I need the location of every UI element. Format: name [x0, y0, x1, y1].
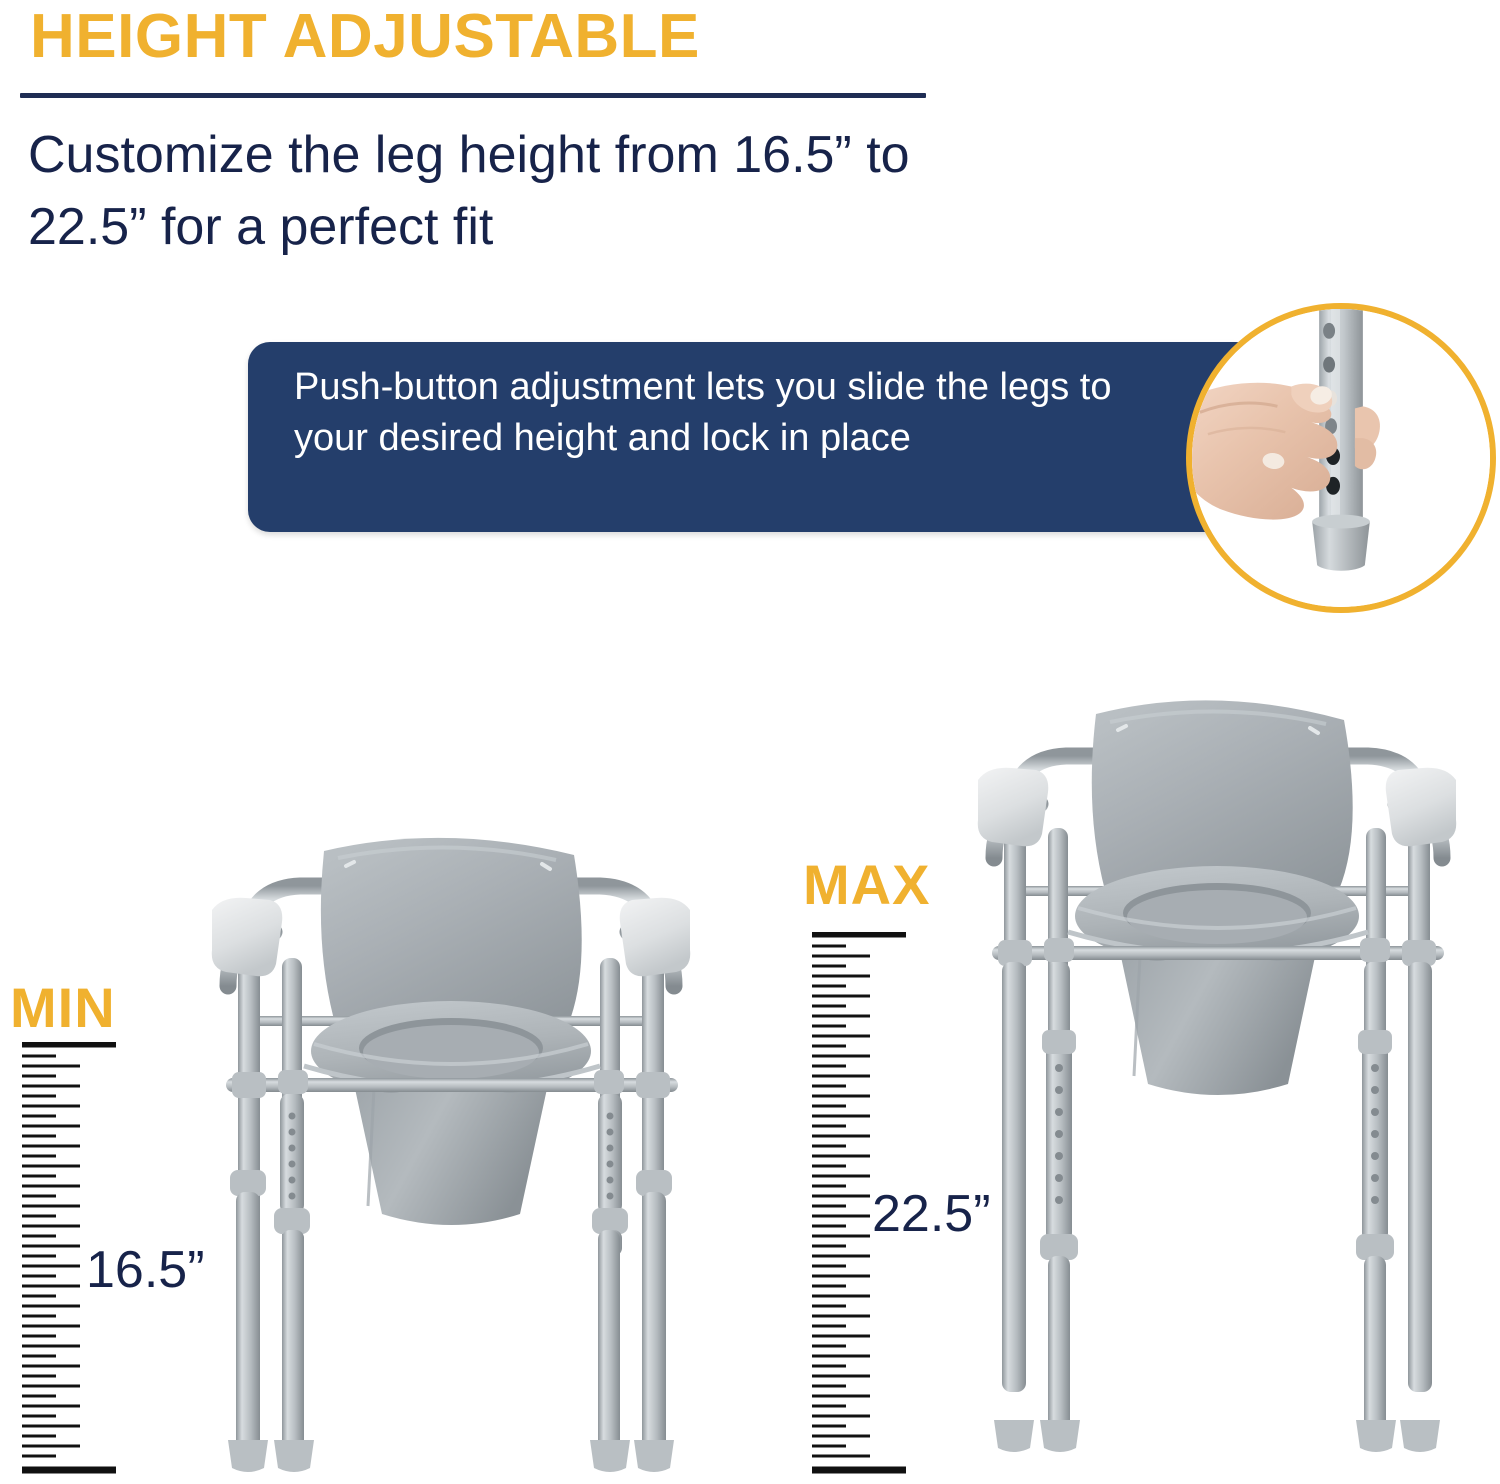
commode-chair-max-illustration	[946, 686, 1486, 1484]
hand-on-leg-illustration	[1192, 309, 1490, 607]
max-label: MAX	[803, 857, 930, 913]
push-button-leg-closeup-inset	[1186, 303, 1496, 613]
title-divider	[20, 93, 926, 98]
commode-chair-max	[946, 686, 1486, 1484]
page-title: HEIGHT ADJUSTABLE	[30, 4, 700, 69]
callout-box: Push-button adjustment lets you slide th…	[248, 342, 1258, 532]
subheading: Customize the leg height from 16.5” to 2…	[28, 120, 928, 264]
min-label: MIN	[10, 980, 116, 1036]
commode-chair-min-illustration	[186, 826, 716, 1484]
callout-text: Push-button adjustment lets you slide th…	[294, 362, 1174, 463]
commode-chair-min	[186, 826, 716, 1484]
infographic-page: HEIGHT ADJUSTABLE Customize the leg heig…	[0, 0, 1500, 1484]
